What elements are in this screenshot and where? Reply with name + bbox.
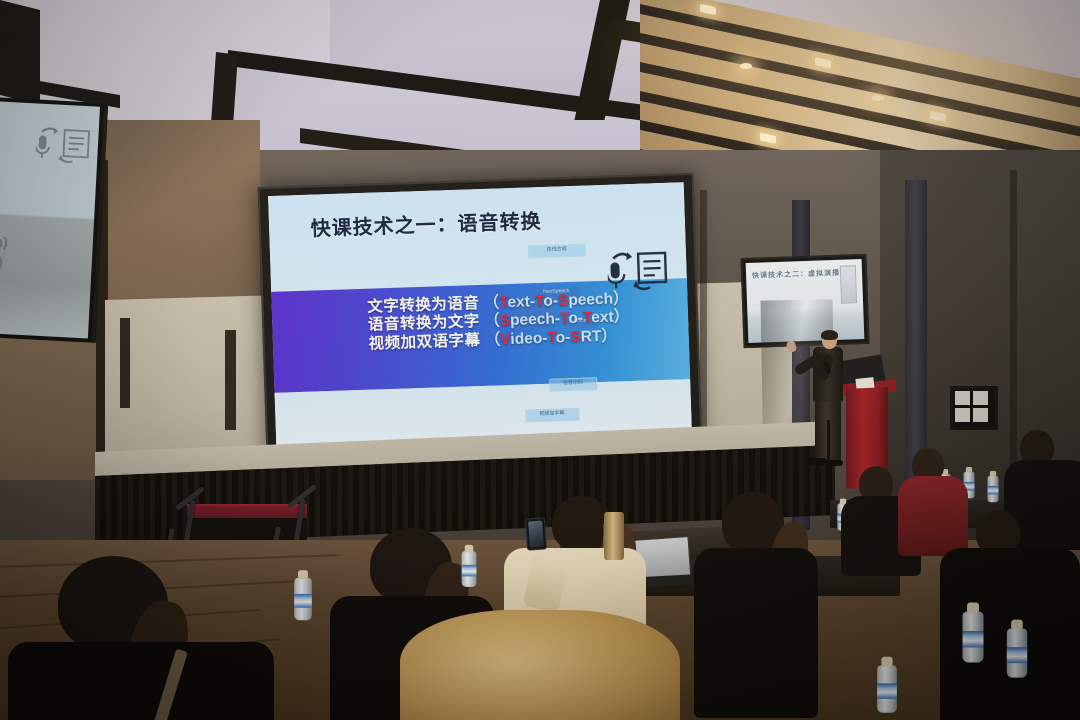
speech-recognition-button[interactable]: 语音识别 <box>549 377 597 392</box>
monitor-thumbnail <box>840 265 857 304</box>
stage-monitor-title: 快课技术之二：虚拟演播 <box>752 268 840 281</box>
left-mirrored-slide: ch)xt)T) <box>0 101 100 338</box>
thermos-flask <box>604 512 624 560</box>
screen-bezel: 快课技术之一：语音转换 在线合成 NeoSpeech <box>268 182 692 448</box>
attendee-right-mid <box>940 510 1080 720</box>
service-window <box>950 386 998 430</box>
smartphone-recording <box>525 517 547 550</box>
attendee-ponytail-center <box>700 492 810 720</box>
slide-line-3-cn: 视频加双语字幕 <box>368 332 481 353</box>
water-bottle <box>963 612 984 663</box>
wall-trim <box>120 318 130 408</box>
slide-line-3-en: （Video-To-SRT） <box>485 327 618 348</box>
conference-photo-scene: ch)xt)T) 快课技术之一：语音转换 <box>0 0 1080 720</box>
slide-line-1-cn: 文字转换为语音 <box>367 295 480 316</box>
water-bottle <box>294 578 312 621</box>
water-bottle <box>877 665 897 713</box>
presenter-shoe <box>809 458 827 465</box>
water-bottle <box>988 476 999 503</box>
video-subtitle-button[interactable]: 视频加字幕 <box>525 408 579 423</box>
attendee-foreground-left-black-coat <box>20 556 270 720</box>
slide-body-lines: 文字转换为语音 （Text-To-Speech） 语音转换为文字 （Speech… <box>367 288 685 354</box>
left-mirrored-screen: ch)xt)T) <box>0 97 108 343</box>
presentation-slide: 快课技术之一：语音转换 在线合成 NeoSpeech <box>268 182 692 448</box>
water-bottle <box>1007 628 1027 677</box>
water-bottle <box>462 551 477 587</box>
slide-line-2-cn: 语音转换为文字 <box>368 313 481 334</box>
left-mirrored-slide-text: ch)xt)T) <box>0 231 8 293</box>
microphone-to-document-icon <box>607 248 670 292</box>
presenter-speaker <box>795 332 855 472</box>
wall-trim <box>225 330 236 430</box>
ceiling-downlight <box>872 95 884 101</box>
attendee-fur-coat-center <box>400 600 680 720</box>
microphone-to-document-icon <box>35 124 95 167</box>
presenter-hair <box>821 330 838 340</box>
presenter-shoe <box>827 460 843 466</box>
online-synth-button[interactable]: 在线合成 <box>528 243 586 258</box>
ceiling-downlight <box>740 63 752 69</box>
main-projection-screen: 快课技术之一：语音转换 在线合成 NeoSpeech <box>258 173 703 457</box>
